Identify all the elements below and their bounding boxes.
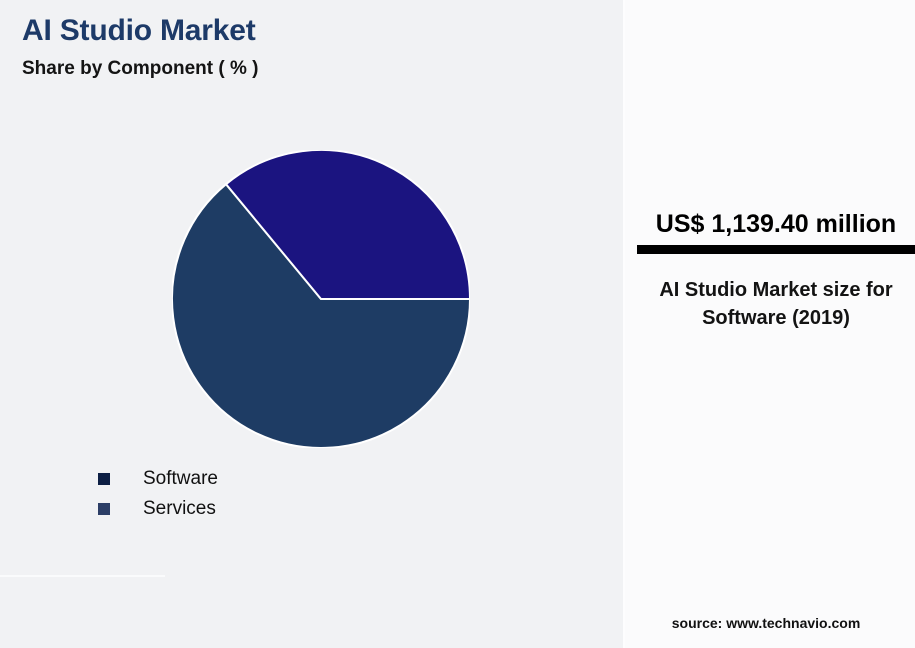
source-note: source: www.technavio.com <box>625 615 907 631</box>
callout-underline-bar <box>637 245 915 254</box>
page-title: AI Studio Market <box>22 14 256 48</box>
callout-value: US$ 1,139.40 million <box>637 210 915 239</box>
pie-chart <box>172 150 470 448</box>
infographic-page: AI Studio Market Share by Component ( % … <box>0 0 915 648</box>
legend: Software Services <box>98 464 218 524</box>
legend-item-label: Services <box>143 498 216 520</box>
pie-chart-svg <box>172 150 470 448</box>
legend-item-software[interactable]: Software <box>98 464 218 494</box>
page-subtitle: Share by Component ( % ) <box>22 58 258 80</box>
callout-description: AI Studio Market size for Software (2019… <box>645 276 907 332</box>
legend-item-services[interactable]: Services <box>98 494 218 524</box>
decorative-rule <box>0 575 165 577</box>
square-swatch-icon <box>98 503 110 515</box>
square-swatch-icon <box>98 473 110 485</box>
legend-item-label: Software <box>143 468 218 490</box>
